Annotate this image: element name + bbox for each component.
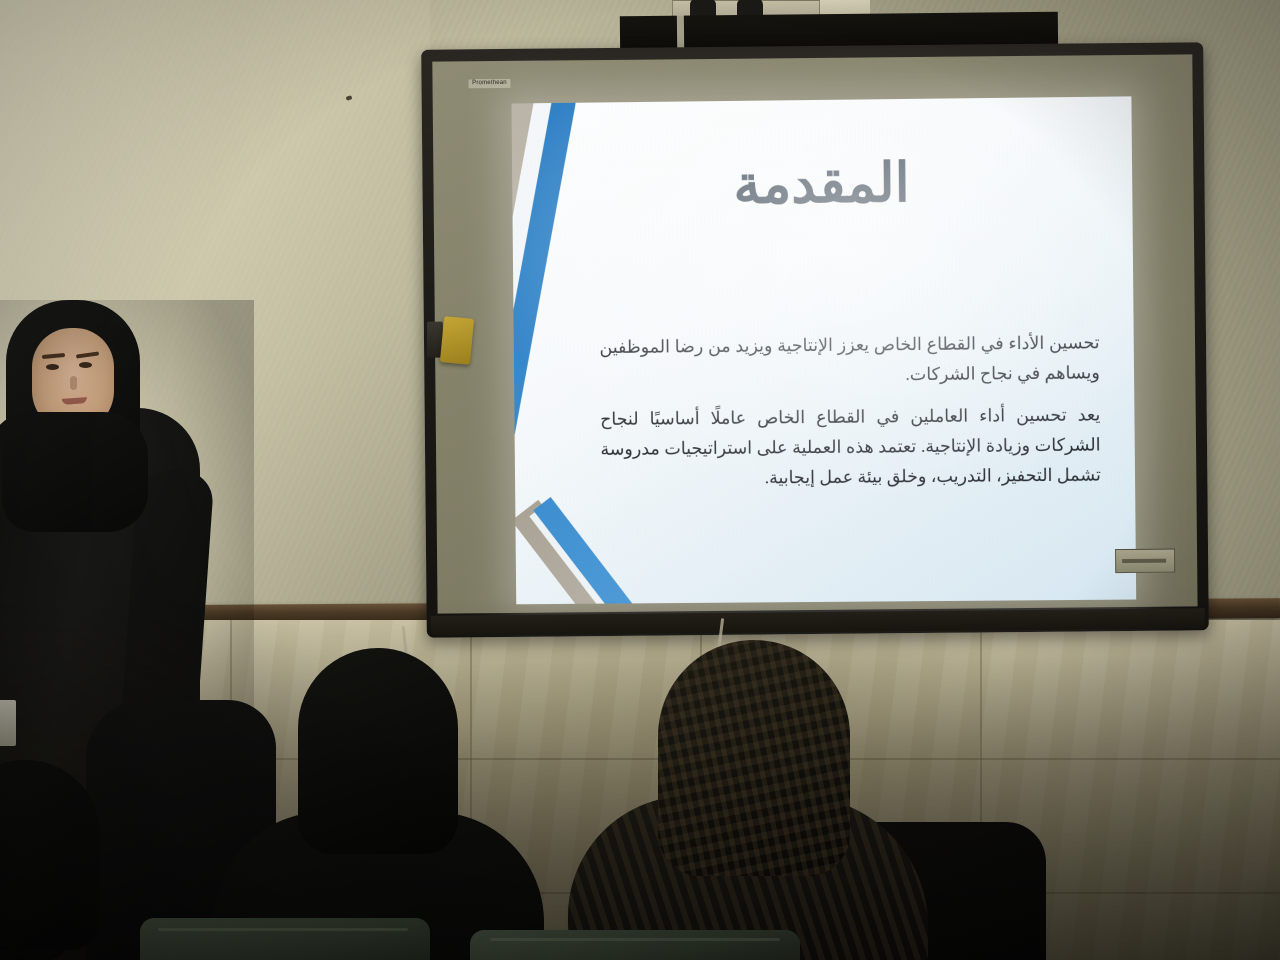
mount-bar-strip [677,12,684,48]
audience-member-center [298,648,458,854]
classroom-photo-scene: المقدمة تحسين الأداء في القطاع الخاص يعز… [0,0,1280,960]
whiteboard-id-plate [1115,549,1175,574]
slide-body: تحسين الأداء في القطاع الخاص يعزز الإنتا… [599,327,1101,506]
slide-title: المقدمة [512,148,1133,218]
audience-member-right [658,640,850,876]
presenter-eye-left [46,364,59,370]
presenter-nose [70,376,77,390]
whiteboard-yellow-clip[interactable] [440,316,474,365]
presenter-eye-right [79,362,92,368]
chair-back-left [140,918,430,960]
projected-slide: المقدمة تحسين الأداء في القطاع الخاص يعز… [511,96,1136,604]
chair-seam [490,938,780,941]
chair-seam [158,928,408,931]
chair-back-right [470,930,800,960]
paper-sheet [0,700,16,746]
slide-paragraph-1: تحسين الأداء في القطاع الخاص يعزز الإنتا… [599,327,1100,392]
whiteboard-surface[interactable]: المقدمة تحسين الأداء في القطاع الخاص يعز… [432,54,1197,613]
slide-paragraph-2: يعد تحسين أداء العاملين في القطاع الخاص … [600,400,1101,495]
interactive-whiteboard[interactable]: المقدمة تحسين الأداء في القطاع الخاص يعز… [421,42,1209,637]
whiteboard-brand-logo: Promethean [468,79,510,88]
audience-member-left-edge [0,760,100,950]
presenter-hijab-drape [2,412,148,532]
